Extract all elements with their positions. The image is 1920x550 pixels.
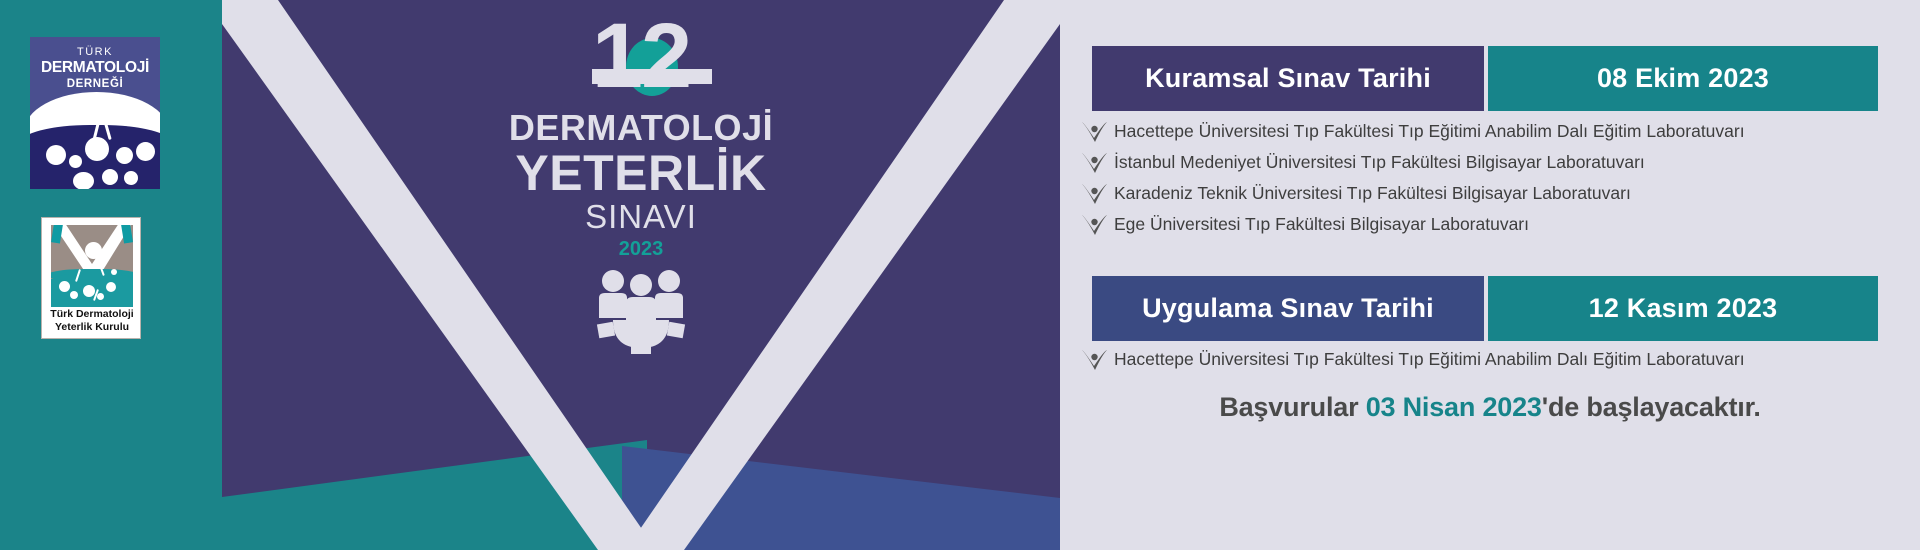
tdyk-bubble (106, 282, 116, 292)
people-at-table-icon (222, 268, 1060, 359)
edition-number-underbar (592, 69, 712, 84)
tdd-line1: TÜRK (30, 47, 160, 58)
exam-announcement-banner: TÜRK DERMATOLOJİ DERNEĞİ (0, 0, 1920, 550)
v-bullet-icon (1080, 211, 1114, 242)
tdd-bubble (102, 169, 118, 185)
tdd-line3: DERNEĞİ (30, 79, 160, 91)
footnote-date: 03 Nisan 2023 (1366, 392, 1542, 422)
list-item: İstanbul Medeniyet Üniversitesi Tıp Fakü… (1080, 149, 1745, 180)
tdyk-bubble (83, 285, 95, 297)
tdyk-spike-right (120, 225, 133, 244)
tdd-bubble (124, 171, 138, 185)
title-line-3: SINAVI (222, 198, 1060, 236)
footnote-suffix: 'de başlayacaktır. (1542, 392, 1761, 422)
list-item: Hacettepe Üniversitesi Tıp Fakültesi Tıp… (1080, 118, 1745, 149)
list-item-label: Hacettepe Üniversitesi Tıp Fakültesi Tıp… (1114, 118, 1745, 144)
tdyk-caption-line2: Yeterlik Kurulu (55, 321, 129, 333)
event-logotype: 12 DERMATOLOJİ YETERLİK SINAVI 2023 (222, 0, 1060, 262)
application-start-note: Başvurular 03 Nisan 2023'de başlayacaktı… (1060, 392, 1920, 423)
practical-exam-location-list: Hacettepe Üniversitesi Tıp Fakültesi Tıp… (1080, 346, 1745, 377)
tdyk-caption-line1: Türk Dermatoloji (50, 308, 133, 320)
list-item: Ege Üniversitesi Tıp Fakültesi Bilgisaya… (1080, 211, 1745, 242)
center-artwork-panel: 12 DERMATOLOJİ YETERLİK SINAVI 2023 (222, 0, 1060, 550)
list-item-label: Karadeniz Teknik Üniversitesi Tıp Fakült… (1114, 180, 1631, 206)
tdyk-emblem (51, 225, 133, 307)
edition-number-block: 12 (592, 12, 690, 102)
theory-exam-date-bar: Kuramsal Sınav Tarihi 08 Ekim 2023 (1092, 46, 1878, 111)
list-item: Karadeniz Teknik Üniversitesi Tıp Fakült… (1080, 180, 1745, 211)
tdd-bubble (46, 145, 66, 165)
list-item: Hacettepe Üniversitesi Tıp Fakültesi Tıp… (1080, 346, 1745, 377)
v-bullet-icon (1080, 149, 1114, 180)
list-item-label: Hacettepe Üniversitesi Tıp Fakültesi Tıp… (1114, 346, 1745, 372)
theory-exam-location-list: Hacettepe Üniversitesi Tıp Fakültesi Tıp… (1080, 118, 1745, 242)
list-item-label: İstanbul Medeniyet Üniversitesi Tıp Fakü… (1114, 149, 1645, 175)
tdd-line2: DERMATOLOJİ (30, 60, 160, 76)
tdd-bubble (73, 172, 94, 189)
practical-exam-date-bar: Uygulama Sınav Tarihi 12 Kasım 2023 (1092, 276, 1878, 341)
v-bullet-icon (1080, 346, 1114, 377)
turk-dermatoloji-dernegi-logo: TÜRK DERMATOLOJİ DERNEĞİ (30, 37, 160, 189)
practical-exam-date: 12 Kasım 2023 (1488, 276, 1878, 341)
exam-details-panel: Kuramsal Sınav Tarihi 08 Ekim 2023 Hacet… (1060, 0, 1920, 550)
v-bullet-icon (1080, 180, 1114, 211)
theory-exam-date: 08 Ekim 2023 (1488, 46, 1878, 111)
title-line-2: YETERLİK (222, 148, 1060, 198)
tdd-bubble (136, 142, 155, 161)
tdyk-bubble (97, 293, 104, 300)
list-item-label: Ege Üniversitesi Tıp Fakültesi Bilgisaya… (1114, 211, 1529, 237)
tdyk-dot (85, 242, 102, 259)
tdd-bubble (85, 137, 109, 161)
footnote-prefix: Başvurular (1219, 392, 1365, 422)
tdd-bubble (116, 147, 133, 164)
tdyk-bubble (111, 269, 117, 275)
theory-exam-label: Kuramsal Sınav Tarihi (1092, 46, 1484, 111)
title-line-1: DERMATOLOJİ (222, 108, 1060, 148)
edition-number: 12 (592, 12, 690, 100)
tdyk-bubble (70, 291, 78, 299)
left-logo-column: TÜRK DERMATOLOJİ DERNEĞİ (0, 0, 222, 550)
practical-exam-label: Uygulama Sınav Tarihi (1092, 276, 1484, 341)
event-year: 2023 (222, 236, 1060, 262)
v-bullet-icon (1080, 118, 1114, 149)
turk-dermatoloji-yeterlik-kurulu-logo: Türk Dermatoloji Yeterlik Kurulu (41, 217, 141, 339)
tdd-bubble (69, 155, 82, 168)
tdyk-bubble (59, 281, 70, 292)
tdyk-caption: Türk Dermatoloji Yeterlik Kurulu (42, 308, 142, 334)
